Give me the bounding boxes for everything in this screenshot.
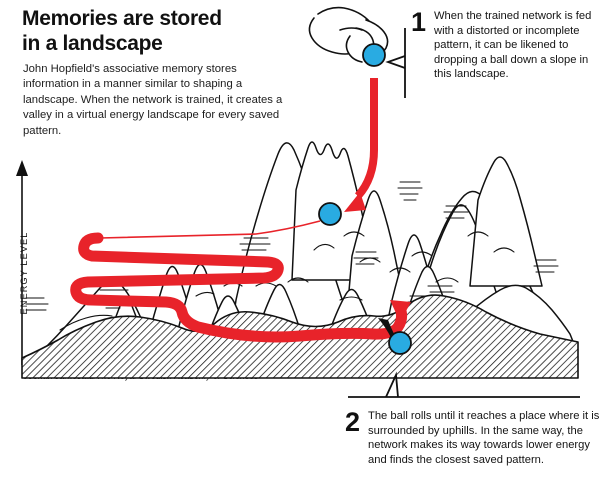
ball-on-slope [319,203,341,225]
ball-in-valley [389,332,411,354]
ball-in-hand [363,44,385,66]
callout-1-leader [388,28,405,98]
energy-landscape-figure [0,0,600,487]
energy-axis-arrow [16,160,28,365]
